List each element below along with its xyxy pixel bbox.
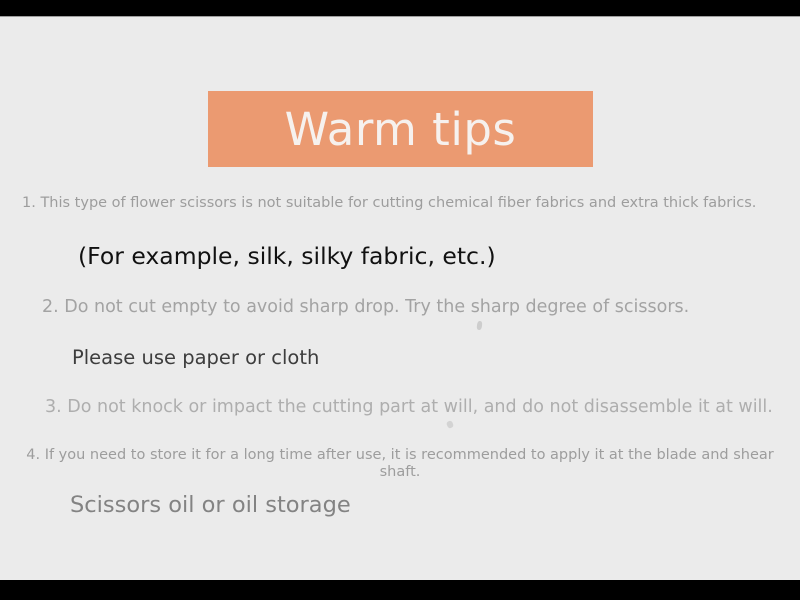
title-banner: Warm tips: [208, 91, 593, 167]
tip-item-1: 1. This type of flower scissors is not s…: [22, 195, 756, 212]
slide-viewport: Warm tips 1. This type of flower scissor…: [0, 0, 800, 600]
tip-item-2: 2. Do not cut empty to avoid sharp drop.…: [42, 297, 689, 317]
tip-item-3: 3. Do not knock or impact the cutting pa…: [45, 397, 773, 417]
page-title: Warm tips: [285, 107, 517, 152]
image-artifact-smudge-upper: [476, 321, 482, 331]
tip-item-2-note: Please use paper or cloth: [72, 347, 319, 369]
tip-item-1-example: (For example, silk, silky fabric, etc.): [78, 243, 496, 270]
letterbox-bar-top: [0, 0, 800, 16]
letterbox-bar-bottom: [0, 580, 800, 600]
tip-item-4-note: Scissors oil or oil storage: [70, 493, 351, 519]
image-artifact-smudge-lower: [446, 420, 454, 429]
slide-content-area: Warm tips 1. This type of flower scissor…: [0, 17, 800, 580]
tip-item-4: 4. If you need to store it for a long ti…: [0, 447, 800, 481]
